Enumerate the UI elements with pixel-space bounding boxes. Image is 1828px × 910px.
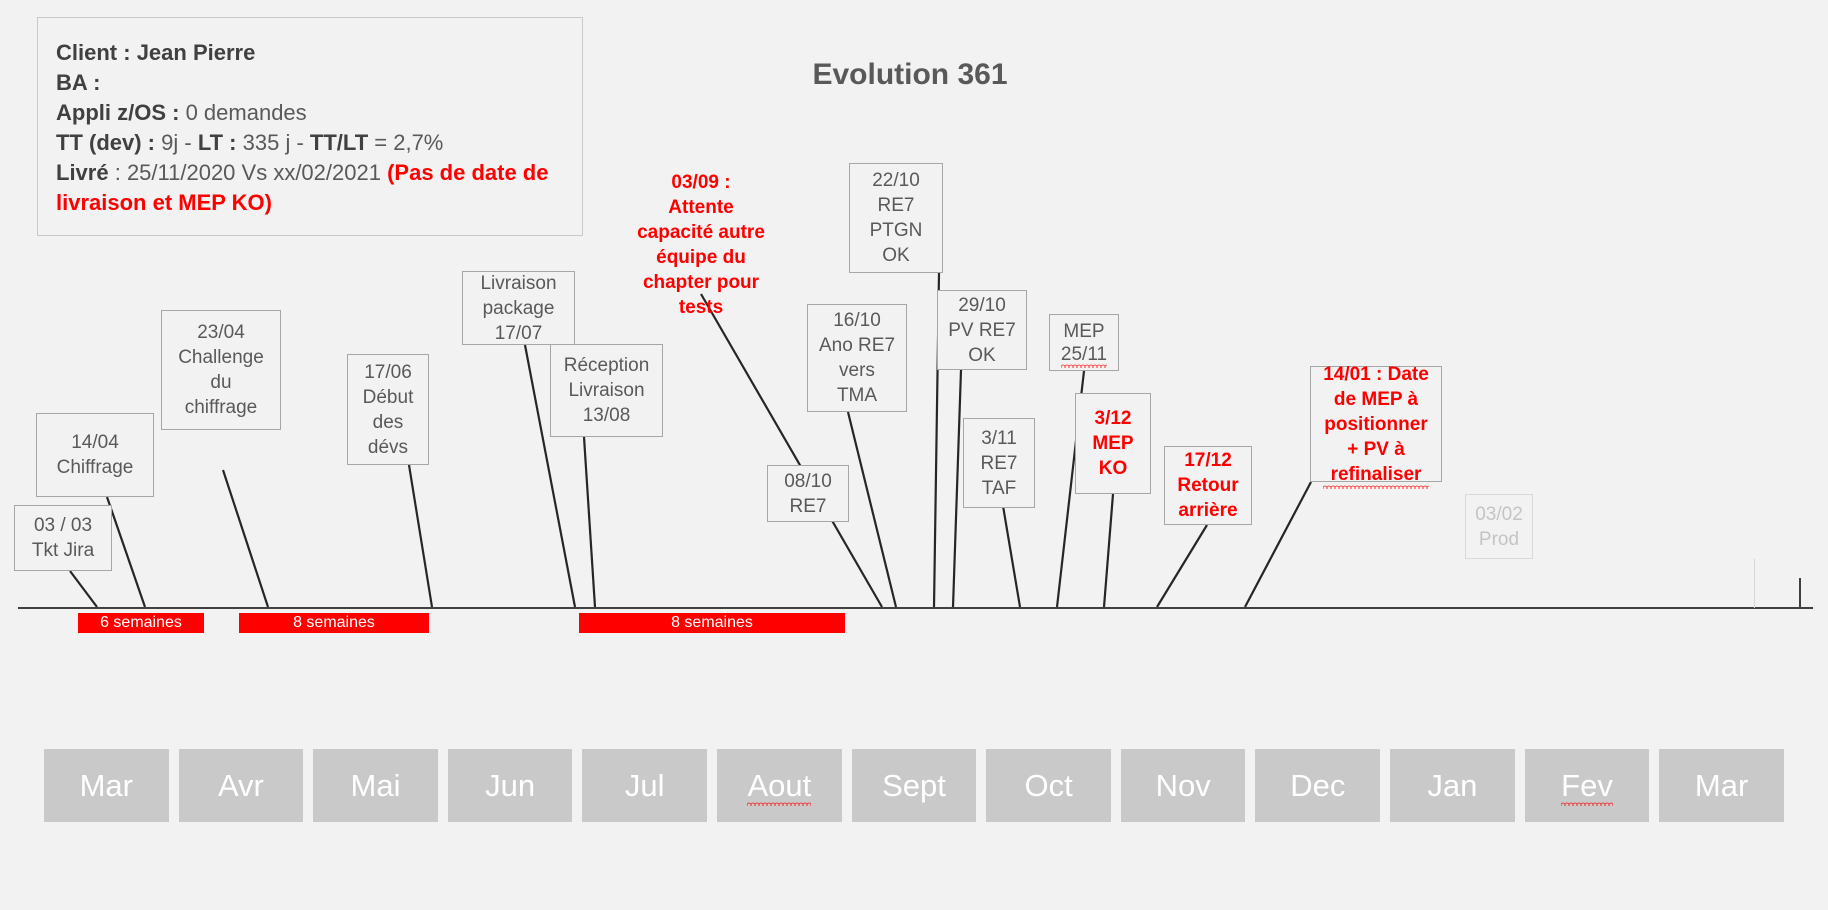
info-line-ba: BA : <box>56 68 564 98</box>
livre-label: Livré <box>56 160 109 185</box>
ratio-value: = 2,7% <box>374 130 443 155</box>
month-cell-aout[interactable]: Aout <box>717 749 842 822</box>
month-label: Mar <box>80 768 133 804</box>
event-14-01-date-mep-a-positionner[interactable]: 14/01 : Date de MEP à positionner + PV à… <box>1310 366 1442 482</box>
info-line-appli: Appli z/OS : 0 demandes <box>56 98 564 128</box>
appli-value: 0 demandes <box>186 100 307 125</box>
lt-value: 335 j - <box>243 130 304 155</box>
event-17-12-retour-arriere[interactable]: 17/12 Retour arrière <box>1164 446 1252 525</box>
month-cell-avr[interactable]: Avr <box>179 749 304 822</box>
event-08-10-re7[interactable]: 08/10 RE7 <box>767 465 849 522</box>
month-cell-fev[interactable]: Fev <box>1525 749 1650 822</box>
event-mep-25-11[interactable]: MEP 25/11 <box>1049 314 1119 371</box>
appli-label: Appli z/OS : <box>56 100 179 125</box>
month-label: Jan <box>1427 768 1477 804</box>
month-cell-jun[interactable]: Jun <box>448 749 573 822</box>
ba-label: BA : <box>56 70 100 95</box>
event-17-06-debut-devs[interactable]: 17/06 Début des dévs <box>347 354 429 465</box>
lt-label: LT : <box>198 130 237 155</box>
tt-label: TT (dev) : <box>56 130 155 155</box>
month-label: Jul <box>625 768 665 804</box>
month-label: Oct <box>1024 768 1072 804</box>
event-22-10-re7-ptgn-ok[interactable]: 22/10 RE7 PTGN OK <box>849 163 943 273</box>
month-cell-oct[interactable]: Oct <box>986 749 1111 822</box>
month-cell-sept[interactable]: Sept <box>852 749 977 822</box>
month-label: Nov <box>1156 768 1211 804</box>
duration-bar-8-semaines-2: 8 semaines <box>579 613 845 633</box>
event-23-04-challenge-chiffrage[interactable]: 23/04 Challenge du chiffrage <box>161 310 281 430</box>
event-03-11-re7-taf[interactable]: 3/11 RE7 TAF <box>963 418 1035 508</box>
mep-25-11-text: MEP 25/11 <box>1061 320 1107 366</box>
month-label: Mai <box>351 768 401 804</box>
event-16-10-ano-re7-vers-tma[interactable]: 16/10 Ano RE7 vers TMA <box>807 304 907 412</box>
page-title: Evolution 361 <box>620 58 1200 92</box>
event-03-12-mep-ko[interactable]: 3/12 MEP KO <box>1075 393 1151 494</box>
duration-bar-6-semaines: 6 semaines <box>78 613 204 633</box>
timeline-axis <box>18 607 1813 609</box>
event-livraison-package-17-07[interactable]: Livraison package 17/07 <box>462 271 575 345</box>
month-label: Sept <box>882 768 946 804</box>
info-line-livre: Livré : 25/11/2020 Vs xx/02/2021 (Pas de… <box>56 158 564 218</box>
client-value: Jean Pierre <box>137 40 256 65</box>
timeline-end-tick <box>1799 578 1801 608</box>
tt-value: 9j - <box>161 130 192 155</box>
month-cell-mar-2[interactable]: Mar <box>1659 749 1784 822</box>
prod-connector-line <box>1754 559 1755 608</box>
info-line-client: Client : Jean Pierre <box>56 38 564 68</box>
mep-label: MEP 25/11 <box>1061 320 1107 366</box>
livre-value: : 25/11/2020 Vs xx/02/2021 <box>115 160 381 185</box>
month-label: Jun <box>485 768 535 804</box>
month-cell-dec[interactable]: Dec <box>1255 749 1380 822</box>
month-cell-jan[interactable]: Jan <box>1390 749 1515 822</box>
month-cell-mai[interactable]: Mai <box>313 749 438 822</box>
info-line-tt-lt: TT (dev) : 9j - LT : 335 j - TT/LT = 2,7… <box>56 128 564 158</box>
ratio-label: TT/LT <box>310 130 368 155</box>
month-label: Mar <box>1695 768 1748 804</box>
event-29-10-pv-re7-ok[interactable]: 29/10 PV RE7 OK <box>937 290 1027 370</box>
event-03-02-prod[interactable]: 03/02 Prod <box>1465 494 1533 559</box>
month-cell-mar-1[interactable]: Mar <box>44 749 169 822</box>
event-14-04-chiffrage[interactable]: 14/04 Chiffrage <box>36 413 154 497</box>
month-label: Avr <box>218 768 264 804</box>
event-reception-livraison-13-08[interactable]: Réception Livraison 13/08 <box>550 344 663 437</box>
note-03-09: 03/09 : Attente capacité autre équipe du… <box>606 145 796 320</box>
duration-bar-8-semaines-1: 8 semaines <box>239 613 429 633</box>
client-label: Client : <box>56 40 131 65</box>
month-label: Fev <box>1561 768 1613 804</box>
month-label: Aout <box>747 768 811 804</box>
month-label: Dec <box>1290 768 1345 804</box>
timeline-diagram: Client : Jean Pierre BA : Appli z/OS : 0… <box>0 0 1828 910</box>
month-cell-jul[interactable]: Jul <box>582 749 707 822</box>
event-03-03-tkt-jira[interactable]: 03 / 03 Tkt Jira <box>14 505 112 571</box>
month-cell-nov[interactable]: Nov <box>1121 749 1246 822</box>
month-axis: Mar Avr Mai Jun Jul Aout Sept Oct Nov De… <box>44 749 1784 822</box>
project-info-box: Client : Jean Pierre BA : Appli z/OS : 0… <box>37 17 583 236</box>
